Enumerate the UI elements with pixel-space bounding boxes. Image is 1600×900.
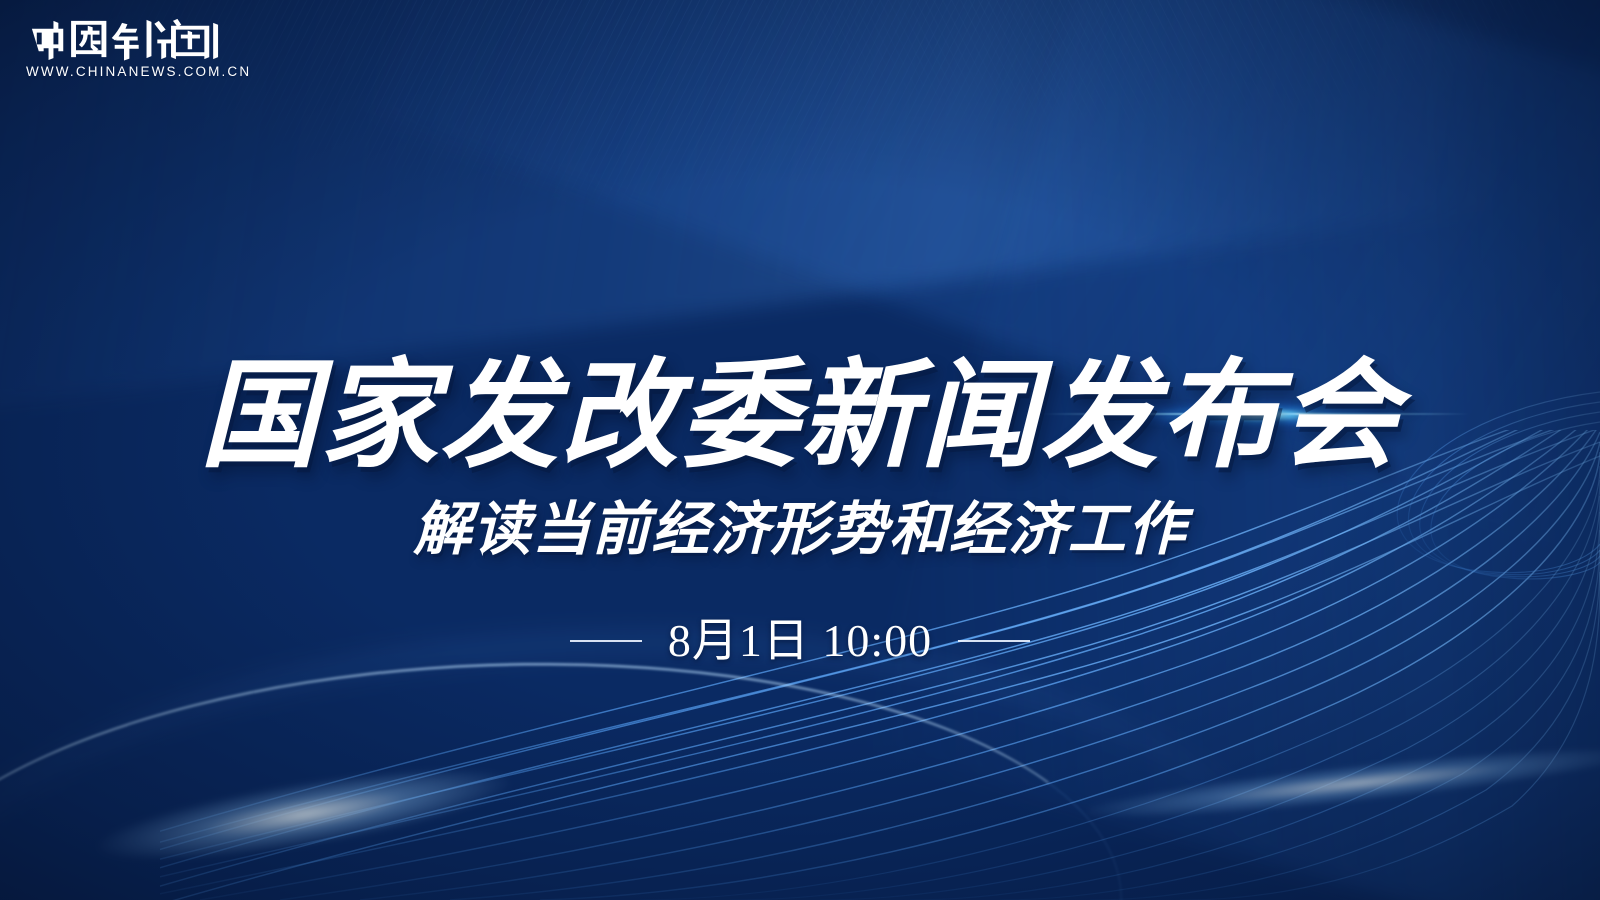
poster-canvas: WWW.CHINANEWS.COM.CN 国家发改委新闻发布会 解读当前经济形势… — [0, 0, 1600, 900]
rule-right — [958, 640, 1030, 642]
event-datetime: 8月1日 10:00 — [668, 618, 932, 664]
page-title: 国家发改委新闻发布会 — [0, 357, 1600, 475]
site-url: WWW.CHINANEWS.COM.CN — [26, 64, 256, 79]
chinanews-logo-icon — [26, 14, 222, 61]
page-subtitle: 解读当前经济形势和经济工作 — [0, 500, 1600, 561]
datetime-row: 8月1日 10:00 — [0, 618, 1600, 664]
site-logo[interactable]: WWW.CHINANEWS.COM.CN — [26, 14, 256, 79]
rule-left — [570, 640, 642, 642]
